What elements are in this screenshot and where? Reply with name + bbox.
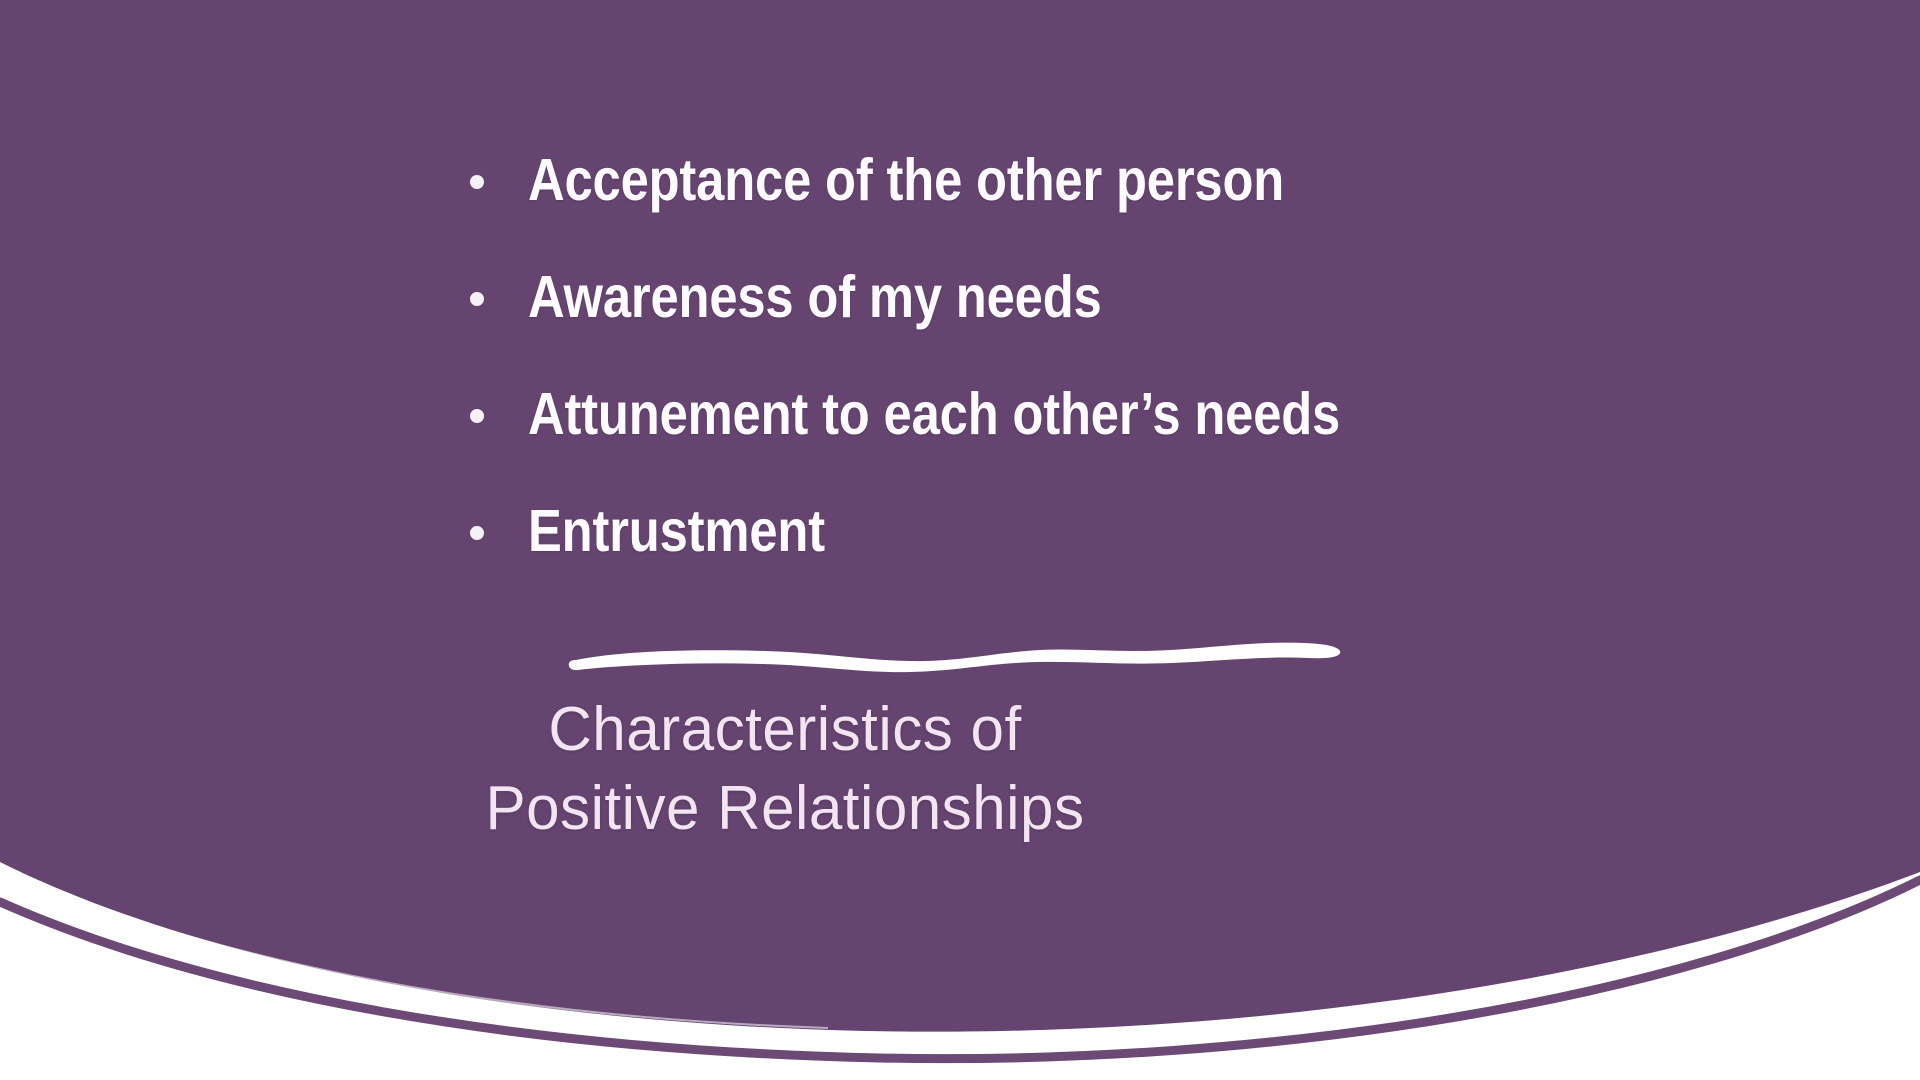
bullet-point-icon	[470, 275, 528, 319]
slide-title: Characteristics of Positive Relationship…	[0, 690, 1570, 849]
bullet-item-label: Awareness of my needs	[528, 267, 1424, 329]
bullet-list: Acceptance of the other person Awareness…	[470, 150, 1570, 618]
divider-stroke	[569, 643, 1340, 672]
page-title-line-2: Positive Relationships	[24, 769, 1547, 848]
bullet-point-icon	[470, 392, 528, 436]
list-item: Acceptance of the other person	[470, 150, 1570, 212]
slide-content: Acceptance of the other person Awareness…	[0, 0, 1920, 1080]
bullet-point-icon	[470, 158, 528, 202]
hand-drawn-divider-line	[560, 620, 1360, 680]
list-item: Attunement to each other’s needs	[470, 384, 1570, 446]
list-item: Awareness of my needs	[470, 267, 1570, 329]
bullet-point-icon	[470, 509, 528, 553]
bullet-item-label: Acceptance of the other person	[528, 150, 1424, 212]
bullet-item-label: Attunement to each other’s needs	[528, 384, 1424, 446]
presentation-slide: Acceptance of the other person Awareness…	[0, 0, 1920, 1080]
page-title-line-1: Characteristics of	[24, 690, 1547, 769]
list-item: Entrustment	[470, 501, 1570, 563]
bullet-item-label: Entrustment	[528, 501, 1424, 563]
